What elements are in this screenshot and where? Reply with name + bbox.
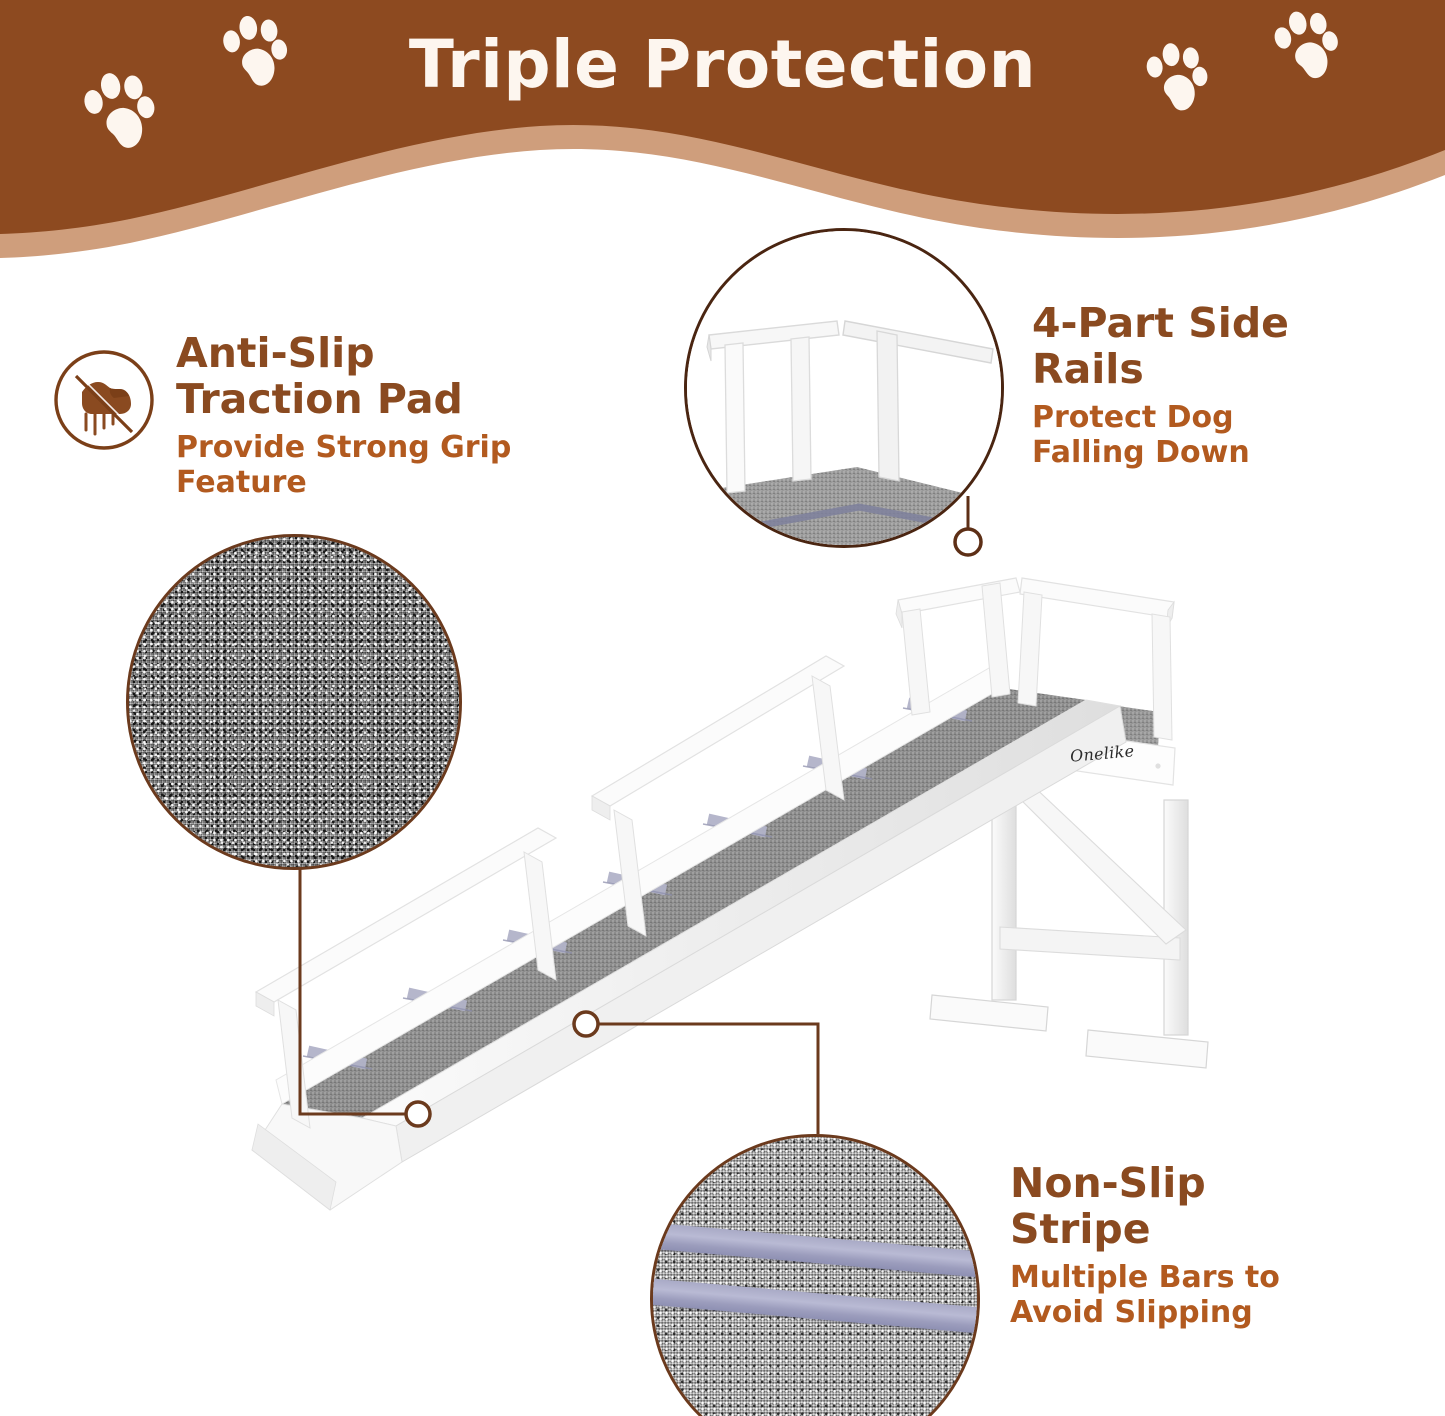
feature-subtitle: Protect Dog Falling Down <box>1032 400 1392 470</box>
feature-anti-slip-traction-pad: Anti-Slip Traction Pad Provide Strong Gr… <box>176 330 596 500</box>
callout-non-slip-stripe <box>650 1134 980 1416</box>
feature-title: Non-Slip Stripe <box>1010 1160 1370 1253</box>
no-slip-shoe-icon <box>52 348 156 452</box>
feature-title: Anti-Slip Traction Pad <box>176 330 596 423</box>
carpet-texture-dark <box>129 537 459 867</box>
callout-traction-pad <box>126 534 462 870</box>
feature-subtitle: Provide Strong Grip Feature <box>176 430 596 500</box>
carpet-texture-light <box>653 1137 977 1416</box>
feature-title: 4-Part Side Rails <box>1032 300 1392 393</box>
side-rails-closeup-art <box>687 231 1004 548</box>
infographic-canvas: Triple Protection <box>0 0 1445 1416</box>
callout-side-rails <box>684 228 1004 548</box>
feature-4-part-side-rails: 4-Part Side Rails Protect Dog Falling Do… <box>1032 300 1392 470</box>
feature-subtitle: Multiple Bars to Avoid Slipping <box>1010 1260 1370 1330</box>
feature-non-slip-stripe: Non-Slip Stripe Multiple Bars to Avoid S… <box>1010 1160 1370 1330</box>
